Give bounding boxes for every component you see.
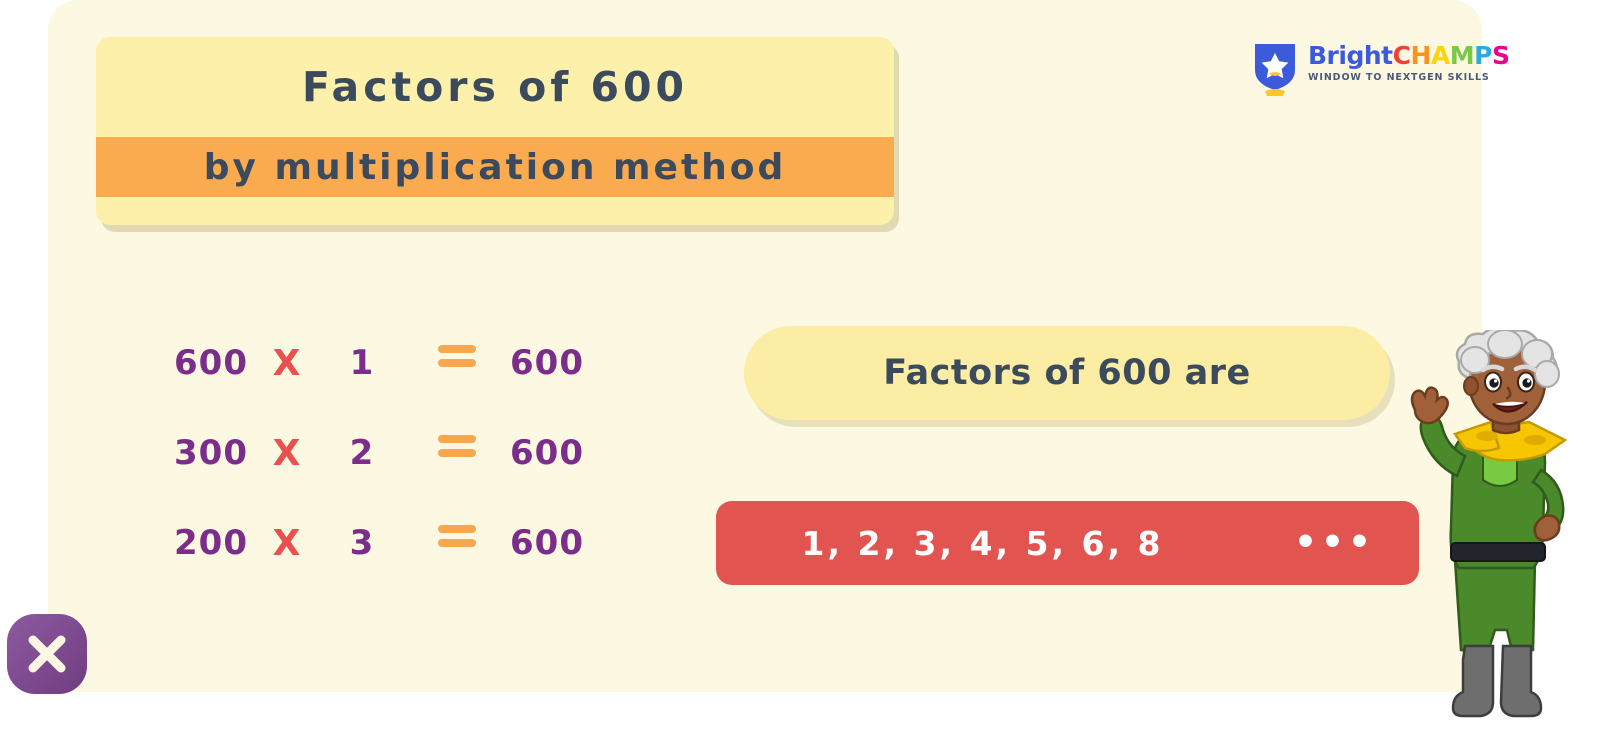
logo-letter: C (1393, 41, 1411, 70)
equation-factor-a: 300 (138, 433, 248, 473)
equals-icon (438, 343, 486, 377)
equation-factor-a: 200 (138, 523, 248, 563)
logo-letter: S (1492, 41, 1510, 70)
close-x-icon (7, 614, 87, 694)
logo-bright-text: Bright (1308, 41, 1393, 70)
title-subtitle-stripe: by multiplication method (96, 137, 894, 197)
factors-answer-bar: 1, 2, 3, 4, 5, 6, 8 ••• (716, 501, 1419, 585)
equation-row: 300 X 2 600 (138, 433, 608, 523)
equals-icon (438, 433, 486, 467)
title-banner: Factors of 600 by multiplication method (96, 37, 894, 225)
equals-icon (438, 523, 486, 557)
factors-callout-bubble: Factors of 600 are (744, 326, 1390, 420)
logo-champs-text: CHAMPS (1393, 41, 1510, 70)
logo-letter: P (1474, 41, 1492, 70)
logo-text-block: BrightCHAMPS WINDOW TO NEXTGEN SKILLS (1308, 42, 1508, 83)
close-button[interactable] (7, 614, 87, 694)
logo-letter: A (1431, 41, 1450, 70)
equation-factor-b: 1 (338, 343, 386, 383)
equation-row: 600 X 1 600 (138, 343, 608, 433)
ellipsis-icon: ••• (1294, 533, 1375, 553)
multiply-icon: X (262, 523, 312, 564)
page-subtitle: by multiplication method (204, 147, 787, 188)
logo-letter: H (1410, 41, 1430, 70)
multiply-icon: X (262, 433, 312, 474)
lesson-card: Factors of 600 by multiplication method … (48, 0, 1482, 692)
logo-tagline: WINDOW TO NEXTGEN SKILLS (1308, 72, 1508, 83)
equation-product: 600 (510, 433, 620, 473)
equation-product: 600 (510, 523, 620, 563)
brightchamps-logo: BrightCHAMPS WINDOW TO NEXTGEN SKILLS (1252, 40, 1502, 96)
logo-wordmark: BrightCHAMPS (1308, 42, 1508, 70)
equation-product: 600 (510, 343, 620, 383)
shield-star-icon (1252, 40, 1298, 96)
equation-factor-b: 3 (338, 523, 386, 563)
equation-row: 200 X 3 600 (138, 523, 608, 613)
factors-callout-text: Factors of 600 are (883, 353, 1251, 393)
equation-factor-b: 2 (338, 433, 386, 473)
equation-factor-a: 600 (138, 343, 248, 383)
teacher-character-illustration (1395, 330, 1600, 740)
multiply-icon: X (262, 343, 312, 384)
page-title: Factors of 600 (96, 37, 894, 137)
logo-letter: M (1450, 41, 1474, 70)
equation-list: 600 X 1 600 300 X 2 600 200 X 3 600 (138, 343, 608, 613)
